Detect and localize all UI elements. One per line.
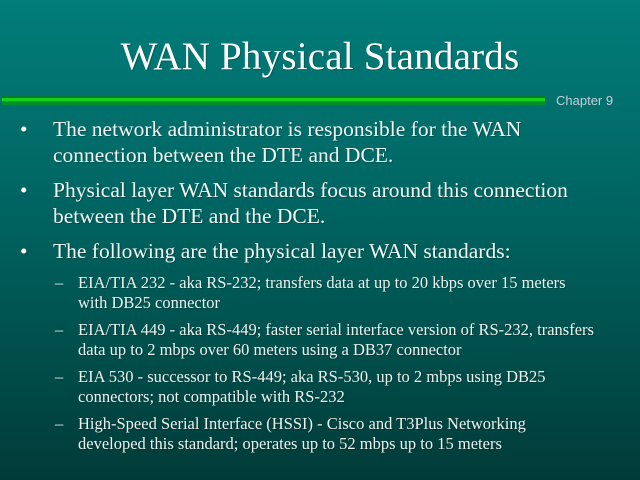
sub-bullet-item: – EIA/TIA 232 - aka RS-232; transfers da… — [0, 273, 640, 313]
sub-bullet-list: – EIA/TIA 232 - aka RS-232; transfers da… — [0, 273, 640, 454]
sub-bullet-text: High-Speed Serial Interface (HSSI) - Cis… — [78, 414, 526, 453]
sub-bullet-item: – EIA/TIA 449 - aka RS-449; faster seria… — [0, 320, 640, 360]
dash-marker-icon: – — [55, 414, 71, 434]
page-title: WAN Physical Standards — [121, 34, 520, 80]
sub-bullet-item: – EIA 530 - successor to RS-449; aka RS-… — [0, 367, 640, 407]
bullet-item: • The network administrator is responsib… — [0, 116, 640, 168]
sub-bullet-text: EIA/TIA 232 - aka RS-232; transfers data… — [78, 273, 566, 312]
sub-bullet-text: EIA/TIA 449 - aka RS-449; faster serial … — [78, 320, 594, 359]
sub-bullet-item: – High-Speed Serial Interface (HSSI) - C… — [0, 414, 640, 454]
dash-marker-icon: – — [55, 367, 71, 387]
title-area: WAN Physical Standards — [0, 34, 640, 80]
bullet-marker-icon: • — [20, 116, 34, 142]
bullet-text: Physical layer WAN standards focus aroun… — [53, 178, 568, 228]
dash-marker-icon: – — [55, 320, 71, 340]
divider-rule — [2, 96, 545, 105]
bullet-marker-icon: • — [20, 177, 34, 203]
bullet-marker-icon: • — [20, 238, 34, 264]
bullet-text: The network administrator is responsible… — [53, 117, 521, 167]
sub-bullet-text: EIA 530 - successor to RS-449; aka RS-53… — [78, 367, 546, 406]
bullet-item: • Physical layer WAN standards focus aro… — [0, 177, 640, 229]
bullet-item: • The following are the physical layer W… — [0, 238, 640, 264]
divider-band-bottom — [2, 102, 545, 105]
bullet-text: The following are the physical layer WAN… — [53, 239, 511, 263]
chapter-label: Chapter 9 — [556, 92, 613, 109]
presentation-slide: WAN Physical Standards Chapter 9 • The n… — [0, 0, 640, 480]
dash-marker-icon: – — [55, 273, 71, 293]
slide-body: • The network administrator is responsib… — [0, 116, 640, 461]
